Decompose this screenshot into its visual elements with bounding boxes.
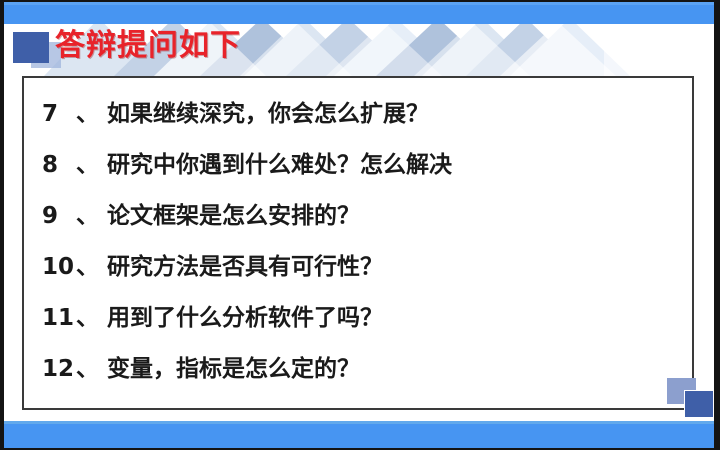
question-list: 7 、 如果继续深究，你会怎么扩展？ 8 、 研究中你遇到什么难处？怎么解决 9… [42, 94, 684, 400]
bottom-accent-band [4, 422, 714, 448]
frame-edge-left [0, 0, 4, 450]
question-text: 变量，指标是怎么定的？ [107, 349, 360, 383]
question-number: 7 [42, 101, 76, 127]
question-separator: 、 [76, 94, 99, 128]
question-number: 9 [42, 203, 76, 229]
page-title: 答辩提问如下 [55, 27, 241, 65]
question-text: 论文框架是怎么安排的？ [107, 196, 360, 230]
question-text: 研究方法是否具有可行性？ [107, 247, 383, 281]
frame-edge-right [714, 0, 720, 450]
frame-edge-top [0, 0, 720, 2]
question-separator: 、 [76, 298, 99, 332]
list-item: 8 、 研究中你遇到什么难处？怎么解决 [42, 145, 684, 196]
list-item: 10 、 研究方法是否具有可行性？ [42, 247, 684, 298]
bottom-accent-band-highlight [4, 421, 714, 424]
title-accent-square-dark [13, 32, 49, 63]
top-accent-band [4, 2, 714, 24]
question-panel: 7 、 如果继续深究，你会怎么扩展？ 8 、 研究中你遇到什么难处？怎么解决 9… [22, 76, 694, 410]
question-text: 如果继续深究，你会怎么扩展？ [107, 94, 429, 128]
question-number: 12 [42, 356, 76, 382]
top-accent-band-highlight [4, 2, 714, 5]
list-item: 7 、 如果继续深究，你会怎么扩展？ [42, 94, 684, 145]
question-text: 用到了什么分析软件了吗？ [107, 298, 383, 332]
question-separator: 、 [76, 349, 99, 383]
question-number: 10 [42, 254, 76, 280]
list-item: 12 、 变量，指标是怎么定的？ [42, 349, 684, 400]
question-number: 11 [42, 305, 76, 331]
question-separator: 、 [76, 196, 99, 230]
question-separator: 、 [76, 145, 99, 179]
question-number: 8 [42, 152, 76, 178]
question-text: 研究中你遇到什么难处？怎么解决 [107, 145, 452, 179]
slide-canvas: 答辩提问如下 7 、 如果继续深究，你会怎么扩展？ 8 、 研究中你遇到什么难处… [0, 0, 720, 450]
list-item: 11 、 用到了什么分析软件了吗？ [42, 298, 684, 349]
list-item: 9 、 论文框架是怎么安排的？ [42, 196, 684, 247]
corner-accent-square-dark [684, 390, 714, 418]
question-separator: 、 [76, 247, 99, 281]
